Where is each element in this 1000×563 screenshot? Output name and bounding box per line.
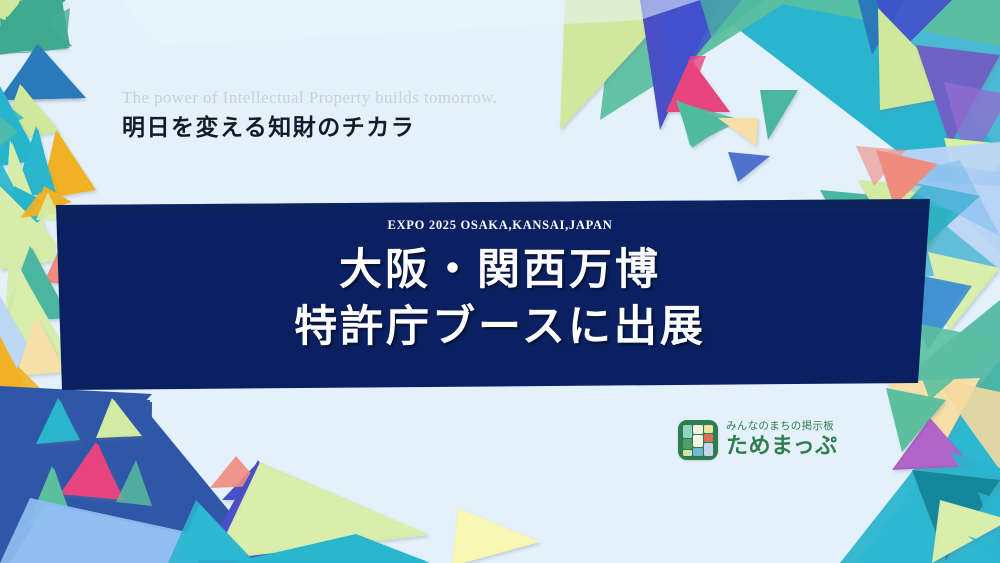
logo-brand-name: ためまっぷ — [726, 434, 838, 459]
tagline-block: The power of Intellectual Property build… — [122, 88, 497, 143]
logo-text-group: みんなのまちの掲示板 ためまっぷ — [726, 421, 838, 460]
logo-mark-cell-2 — [704, 425, 713, 433]
logo-mark-cell-3 — [683, 439, 692, 449]
tamemap-logo-lockup[interactable]: みんなのまちの掲示板 ためまっぷ — [678, 420, 838, 460]
navy-banner-shape — [0, 185, 1000, 400]
logo-mark-cell-7 — [693, 448, 703, 456]
logo-mark-cell-4 — [693, 435, 703, 447]
logo-mark-cell-6 — [683, 450, 692, 456]
poster-canvas: The power of Intellectual Property build… — [0, 0, 1000, 563]
tamemap-bulletin-board-icon — [678, 420, 718, 460]
logo-subtitle: みんなのまちの掲示板 — [726, 421, 838, 433]
logo-mark-cell-8 — [704, 443, 713, 456]
tagline-english: The power of Intellectual Property build… — [122, 88, 497, 109]
tagline-japanese: 明日を変える知財のチカラ — [122, 113, 497, 143]
logo-mark-cell-5 — [704, 434, 713, 442]
logo-mark-cell-1 — [693, 425, 703, 434]
logo-mark-cell-0 — [683, 425, 692, 438]
